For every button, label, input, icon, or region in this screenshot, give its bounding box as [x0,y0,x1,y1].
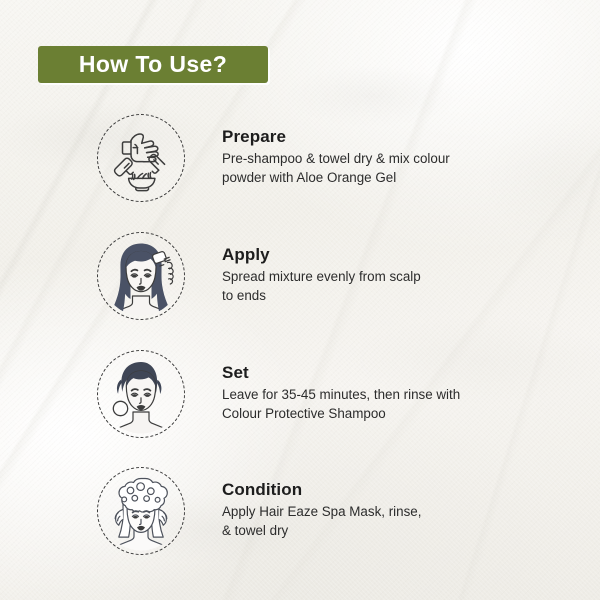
step-title: Condition [222,479,552,500]
step-apply: Apply Spread mixture evenly from scalp t… [0,230,600,326]
step-title: Set [222,362,552,383]
step-set: Set Leave for 35-45 minutes, then rinse … [0,348,600,444]
page-title: How To Use? [79,53,227,76]
step-title: Apply [222,244,552,265]
page-title-banner: How To Use? [38,46,268,83]
step-description: Spread mixture evenly from scalp to ends [222,268,552,305]
how-to-use-infographic: How To Use? [0,0,600,600]
woman-applying-brush-icon [97,232,185,320]
step-title: Prepare [222,126,552,147]
gloved-hand-mixing-bowl-icon [97,114,185,202]
step-condition-text: Condition Apply Hair Eaze Spa Mask, rins… [222,479,552,540]
step-condition: Condition Apply Hair Eaze Spa Mask, rins… [0,465,600,561]
step-apply-text: Apply Spread mixture evenly from scalp t… [222,244,552,305]
step-prepare: Prepare Pre-shampoo & towel dry & mix co… [0,112,600,208]
woman-washing-lather-icon [97,467,185,555]
step-prepare-text: Prepare Pre-shampoo & towel dry & mix co… [222,126,552,187]
step-description: Apply Hair Eaze Spa Mask, rinse, & towel… [222,503,552,540]
step-description: Pre-shampoo & towel dry & mix colour pow… [222,150,552,187]
step-set-text: Set Leave for 35-45 minutes, then rinse … [222,362,552,423]
woman-waiting-icon [97,350,185,438]
step-description: Leave for 35-45 minutes, then rinse with… [222,386,552,423]
